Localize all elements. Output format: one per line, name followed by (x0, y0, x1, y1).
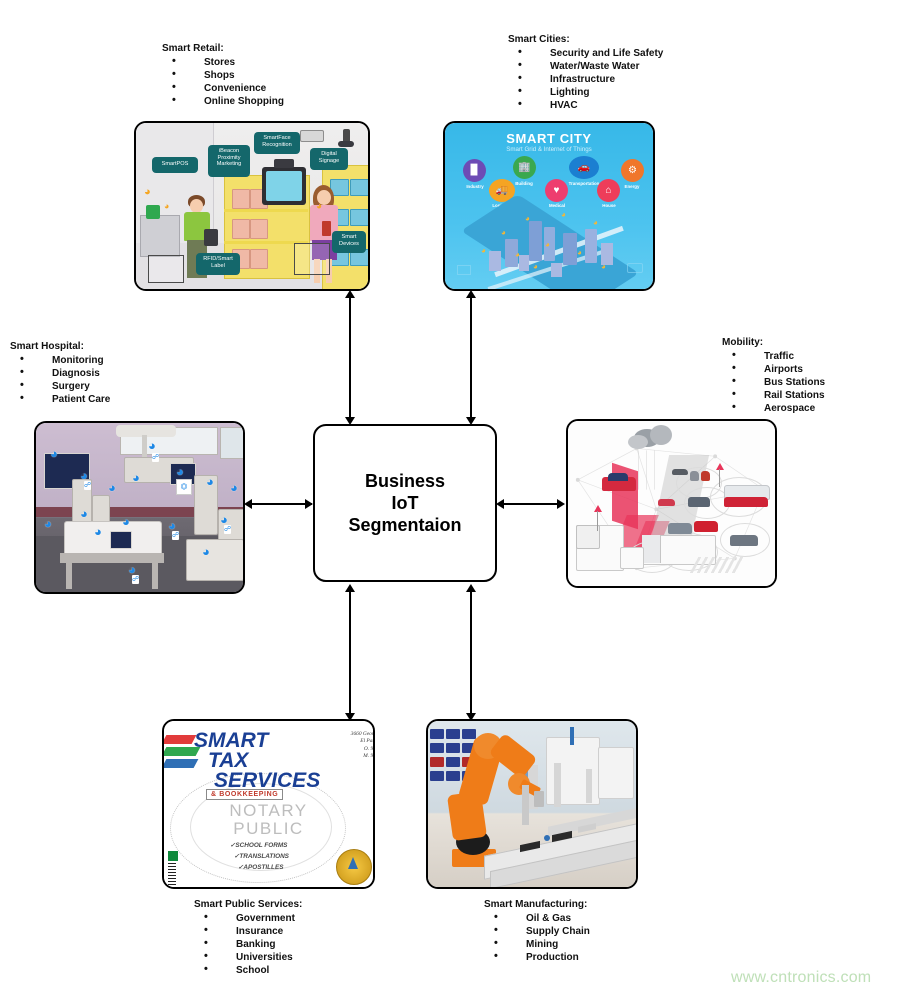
qr-code-icon (168, 851, 178, 861)
house-icon: ⌂ (597, 179, 620, 202)
bluetooth-icon: ☍ (172, 531, 179, 540)
image-mobility[interactable] (566, 419, 777, 588)
image-smart-retail[interactable]: ◕ ◕ ◕ (134, 121, 370, 291)
arrowhead-up (466, 584, 476, 592)
smart-tax-services-artwork: SMART TAX SERVICES 3660 George Die El Pa… (164, 721, 373, 887)
city-subtitle: Smart Grid & Internet of Things (445, 146, 653, 153)
smart-retail-list: Stores Shops Convenience Online Shopping (162, 56, 284, 108)
smart-public-services-list: Government Insurance Banking Universitie… (194, 912, 302, 977)
energy-icon: ⚙ (621, 159, 644, 182)
tax-check-item: ✓TRANSLATIONS (234, 852, 289, 861)
image-smart-public-services[interactable]: SMART TAX SERVICES 3660 George Die El Pa… (162, 719, 375, 889)
watermark: www.cntronics.com (731, 969, 871, 987)
arrowhead-left (496, 499, 504, 509)
retail-callout-rfid: RFID/Smart Label (196, 253, 240, 275)
mobility-artwork (568, 421, 775, 586)
tax-subbrand: & BOOKKEEPING (206, 789, 283, 800)
list-item: Aerospace (722, 402, 825, 415)
smart-public-services-heading: Smart Public Services: (194, 898, 302, 911)
list-item: Oil & Gas (484, 912, 590, 925)
list-item: Monitoring (10, 354, 110, 367)
smart-hospital-artwork: ◕ ◕ ◕ ◕ ◕ ◕ ◕ ◕ ◕ ◕ ◕ ◕ ◕ ◕ ◕ ◕ ☍ ☍ ☍ ☍ (36, 423, 243, 592)
arrowhead-up (345, 584, 355, 592)
smart-retail-heading: Smart Retail: (162, 42, 284, 55)
center-line-1: Business (348, 470, 461, 492)
connector-center-smart-manufacturing (470, 590, 472, 718)
tax-check-item: ✓APOSTILLES (238, 863, 283, 872)
list-item: Infrastructure (508, 73, 663, 86)
address-line: O. 915.642 (292, 746, 373, 753)
list-item: Patient Care (10, 393, 110, 406)
list-item: Diagnosis (10, 367, 110, 380)
connector-center-smart-cities (470, 296, 472, 422)
list-item: Banking (194, 938, 302, 951)
list-item: Supply Chain (484, 925, 590, 938)
connector-center-smart-public-services (349, 590, 351, 718)
smart-cities-heading: Smart Cities: (508, 33, 663, 46)
address-line: 3660 George Die (292, 731, 373, 738)
list-item: Security and Life Safety (508, 47, 663, 60)
smart-city-artwork: SMART CITY Smart Grid & Internet of Thin… (445, 123, 653, 289)
smart-hospital-list: Monitoring Diagnosis Surgery Patient Car… (10, 354, 110, 406)
center-line-2: IoT (348, 492, 461, 514)
list-item: Shops (162, 69, 284, 82)
notary-line-1: NOTARY (164, 801, 373, 821)
bluetooth-icon: ☍ (132, 575, 139, 584)
list-item: Airports (722, 363, 825, 376)
smart-retail-artwork: ◕ ◕ ◕ (136, 123, 368, 289)
center-node-business-iot-segmentation[interactable]: Business IoT Segmentaion (313, 424, 497, 582)
list-item: Traffic (722, 350, 825, 363)
bluetooth-icon: ☍ (152, 453, 159, 462)
connector-center-smart-hospital (252, 503, 312, 505)
mobility-heading: Mobility: (722, 336, 825, 349)
badge-label: Medical (534, 203, 580, 208)
list-item: Stores (162, 56, 284, 69)
list-item: Lighting (508, 86, 663, 99)
label-smart-manufacturing: Smart Manufacturing: Oil & Gas Supply Ch… (484, 898, 590, 964)
notary-line-2: PUBLIC (164, 819, 373, 839)
transportation-icon: 🚗 (569, 156, 599, 179)
retail-callout-digital-signage: Digital Signage (310, 148, 348, 170)
connector-center-mobility (504, 503, 562, 505)
label-smart-cities: Smart Cities: Security and Life Safety W… (508, 33, 663, 112)
retail-callout-ibeacon: iBeacon Proximity Marketing (208, 145, 250, 177)
center-line-3: Segmentaion (348, 514, 461, 536)
retail-callout-smart-devices: Smart Devices (332, 231, 366, 253)
list-item: Production (484, 951, 590, 964)
diagram-canvas: Smart Retail: Stores Shops Convenience O… (0, 0, 920, 1004)
retail-callout-smartface: SmartFace Recognition (254, 132, 300, 154)
smart-manufacturing-list: Oil & Gas Supply Chain Mining Production (484, 912, 590, 964)
smart-manufacturing-artwork (428, 721, 636, 887)
list-item: Bus Stations (722, 376, 825, 389)
label-mobility: Mobility: Traffic Airports Bus Stations … (722, 336, 825, 415)
list-item: Water/Waste Water (508, 60, 663, 73)
tax-address: 3660 George Die El Paso TX : O. 915.642 … (292, 731, 373, 761)
address-line: El Paso TX : (292, 738, 373, 745)
bluetooth-icon: ☍ (84, 481, 91, 490)
image-smart-cities[interactable]: SMART CITY Smart Grid & Internet of Thin… (443, 121, 655, 291)
bluetooth-icon: ☍ (224, 525, 231, 534)
arrowhead-up (466, 290, 476, 298)
arrowhead-left (244, 499, 252, 509)
list-item: HVAC (508, 99, 663, 112)
connector-center-smart-retail (349, 296, 351, 422)
list-item: Mining (484, 938, 590, 951)
building-icon: 🏢 (513, 156, 536, 179)
industry-icon: ▉ (463, 159, 486, 182)
city-title: SMART CITY (445, 131, 653, 146)
arrowhead-right (305, 499, 313, 509)
smart-manufacturing-heading: Smart Manufacturing: (484, 898, 590, 911)
list-item: School (194, 964, 302, 977)
arrowhead-up (345, 290, 355, 298)
list-item: Government (194, 912, 302, 925)
arrowhead-right (557, 499, 565, 509)
image-smart-manufacturing[interactable] (426, 719, 638, 889)
mobility-list: Traffic Airports Bus Stations Rail Stati… (722, 350, 825, 415)
smart-hospital-heading: Smart Hospital: (10, 340, 110, 353)
center-node-text: Business IoT Segmentaion (348, 470, 461, 536)
list-item: Convenience (162, 82, 284, 95)
tax-check-item: ✓SCHOOL FORMS (230, 841, 287, 850)
address-line: M. 915.613 (292, 753, 373, 760)
smart-cities-list: Security and Life Safety Water/Waste Wat… (508, 47, 663, 112)
list-item: Rail Stations (722, 389, 825, 402)
list-item: Surgery (10, 380, 110, 393)
list-item: Online Shopping (162, 95, 284, 108)
label-smart-public-services: Smart Public Services: Government Insura… (194, 898, 302, 977)
medical-icon: ♥ (545, 179, 568, 202)
label-smart-hospital: Smart Hospital: Monitoring Diagnosis Sur… (10, 340, 110, 406)
image-smart-hospital[interactable]: ◕ ◕ ◕ ◕ ◕ ◕ ◕ ◕ ◕ ◕ ◕ ◕ ◕ ◕ ◕ ◕ ☍ ☍ ☍ ☍ (34, 421, 245, 594)
list-item: Insurance (194, 925, 302, 938)
retail-callout-smartpos: SmartPOS (152, 157, 198, 173)
badge-label: House (586, 203, 632, 208)
label-smart-retail: Smart Retail: Stores Shops Convenience O… (162, 42, 284, 108)
list-item: Universities (194, 951, 302, 964)
